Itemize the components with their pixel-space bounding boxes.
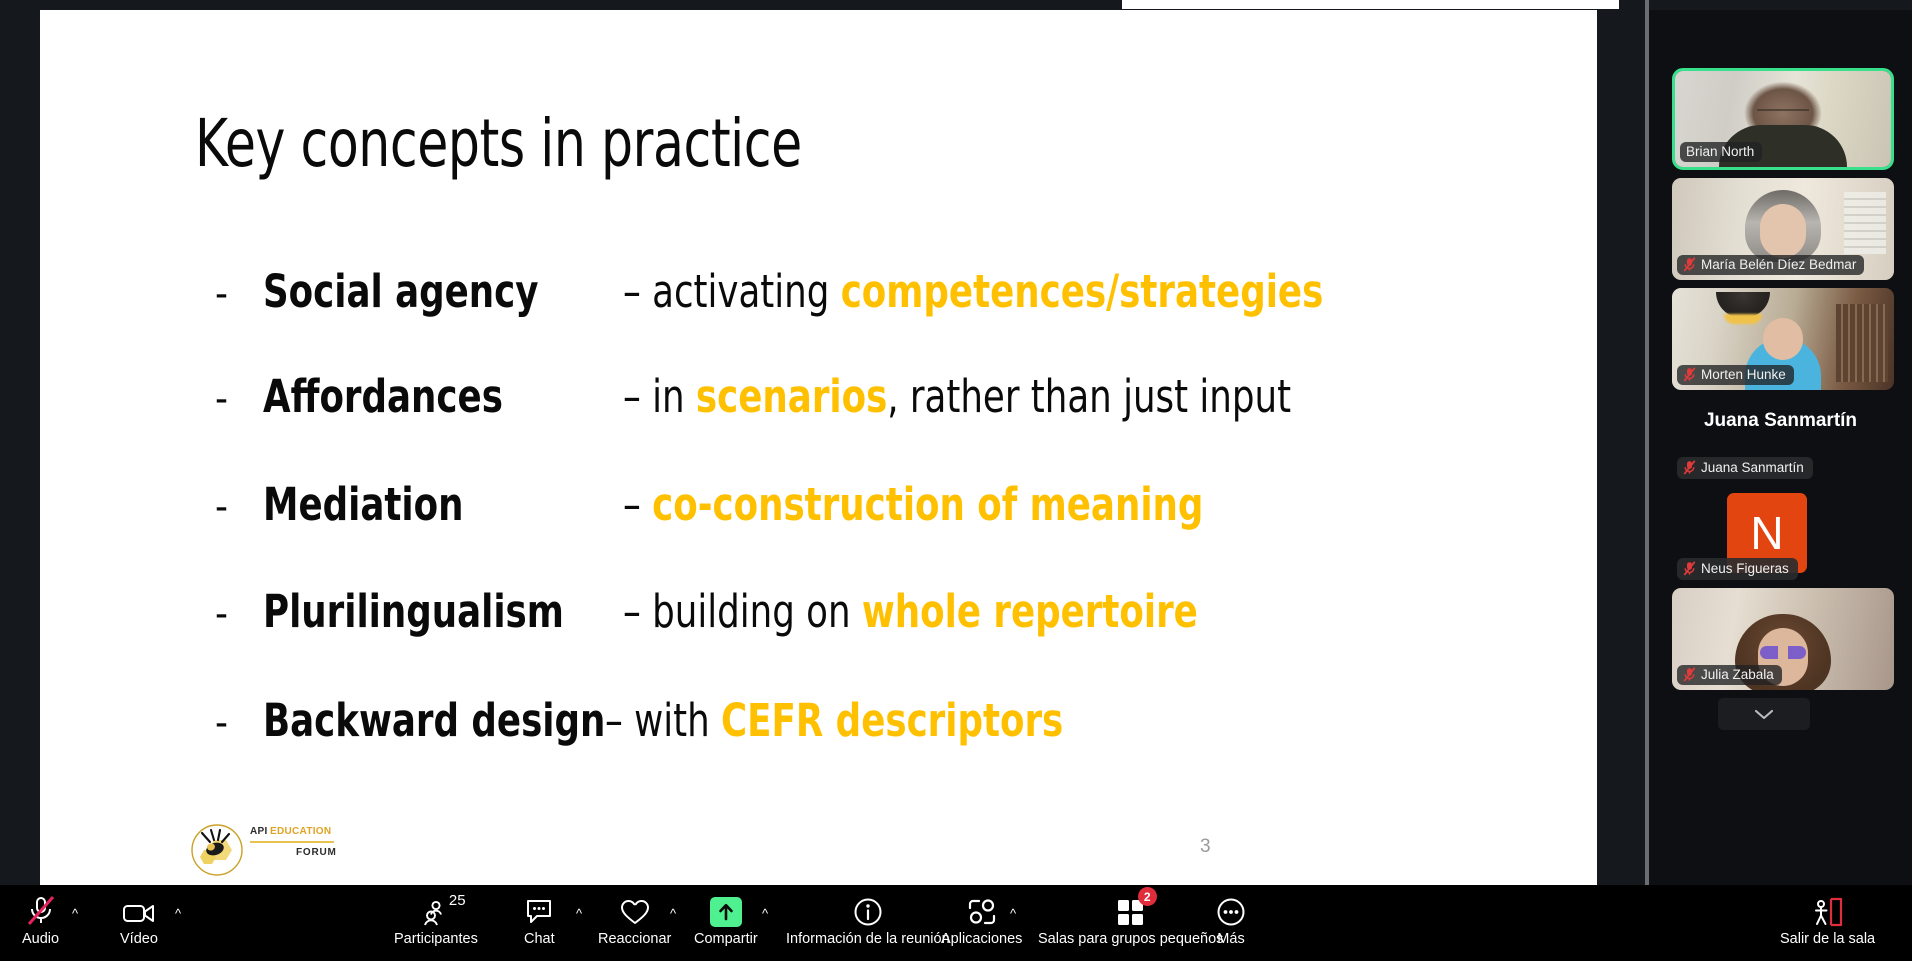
participant-name: Julia Zabala — [1701, 667, 1774, 682]
bullet-dash: - — [215, 376, 263, 422]
microphone-muted-icon — [26, 893, 56, 927]
toolbar-label: Audio — [22, 931, 59, 947]
logo-text-education: EDUCATION — [270, 826, 331, 837]
toolbar-button-meeting-info[interactable]: Información de la reunión — [786, 893, 950, 947]
people-icon: 25 — [421, 893, 451, 927]
participant-nameplate: Brian North — [1680, 142, 1762, 162]
shared-screen-stage: Key concepts in practice - Social agency… — [0, 10, 1645, 885]
bullet-text-highlight: CEFR descriptors — [721, 694, 1063, 747]
bullet-text-highlight: whole repertoire — [862, 585, 1198, 638]
participant-name: Neus Figueras — [1701, 561, 1789, 576]
bullet-text-pre: – — [623, 478, 652, 531]
toolbar-label: Más — [1217, 931, 1244, 947]
bullet-dash: - — [215, 484, 263, 530]
toolbar-label: Información de la reunión — [786, 931, 950, 947]
participant-tile[interactable]: Morten Hunke — [1672, 288, 1894, 390]
video-background-lamp-glow — [1724, 314, 1762, 324]
chevron-down-icon — [1753, 708, 1775, 721]
react-options-caret[interactable]: ^ — [670, 907, 676, 920]
toolbar-label: Salir de la sala — [1780, 931, 1875, 947]
bullet-term: Plurilingualism — [263, 585, 580, 638]
logo-text-forum: FORUM — [296, 847, 337, 858]
breakout-rooms-badge: 2 — [1138, 887, 1157, 906]
toolbar-button-react[interactable]: Reaccionar — [598, 893, 671, 947]
toolbar-button-video[interactable]: Vídeo — [120, 893, 158, 947]
bullet-dash: - — [215, 591, 263, 637]
slide-bullet-4: - Backward design – with CEFR descriptor… — [215, 694, 1126, 747]
bullet-term: Social agency — [263, 265, 580, 318]
bullet-dash: - — [215, 271, 263, 317]
api-education-forum-logo: API EDUCATION FORUM — [188, 820, 318, 878]
bullet-description: – with CEFR descriptors — [605, 694, 1063, 747]
bullet-description: – in scenarios, rather than just input — [623, 370, 1291, 423]
toolbar-label: Compartir — [694, 931, 758, 947]
participant-tile[interactable]: María Belén Díez Bedmar — [1672, 178, 1894, 280]
participant-nameplate: Morten Hunke — [1677, 365, 1794, 385]
toolbar-button-participants[interactable]: 25 Participantes — [394, 893, 478, 947]
video-options-caret[interactable]: ^ — [175, 907, 181, 920]
meeting-toolbar: Audio ^ Vídeo ^ 25 Participantes — [0, 885, 1912, 961]
toolbar-button-chat[interactable]: Chat — [524, 893, 555, 947]
toolbar-label: Reaccionar — [598, 931, 671, 947]
participant-name: Brian North — [1686, 144, 1754, 159]
chat-bubble-icon — [524, 893, 554, 927]
bullet-text-pre: – with — [605, 694, 721, 747]
slide-bullet-2: - Mediation – co-construction of meaning — [215, 478, 1283, 531]
bullet-term: Mediation — [263, 478, 580, 531]
video-background-detail — [1844, 192, 1886, 254]
participant-nameplate[interactable]: Neus Figueras — [1677, 558, 1798, 580]
toolbar-button-leave[interactable]: Salir de la sala — [1780, 893, 1875, 947]
share-options-caret[interactable]: ^ — [762, 907, 768, 920]
participant-nameplate: Julia Zabala — [1677, 665, 1782, 685]
chat-options-caret[interactable]: ^ — [576, 907, 582, 920]
leave-door-icon — [1811, 893, 1845, 927]
toolbar-label: Chat — [524, 931, 555, 947]
bullet-text-pre: – activating — [623, 265, 841, 318]
participant-nameplate[interactable]: Juana Sanmartín — [1677, 457, 1813, 479]
ellipsis-icon — [1216, 893, 1246, 927]
apps-options-caret[interactable]: ^ — [1010, 907, 1016, 920]
bullet-description: – co-construction of meaning — [623, 478, 1203, 531]
participants-count: 25 — [449, 892, 466, 909]
bullet-description: – building on whole repertoire — [623, 585, 1198, 638]
logo-divider-rule — [250, 841, 334, 843]
audio-options-caret[interactable]: ^ — [72, 907, 78, 920]
participant-tile[interactable]: Julia Zabala — [1672, 588, 1894, 690]
toolbar-label: Vídeo — [120, 931, 158, 947]
video-subject-detail — [1760, 646, 1806, 659]
microphone-muted-icon — [1683, 460, 1696, 475]
toolbar-button-breakout-rooms[interactable]: 2 Salas para grupos pequeños — [1038, 893, 1223, 947]
toolbar-button-share[interactable]: Compartir — [694, 893, 758, 947]
bullet-text-highlight: scenarios — [696, 370, 887, 423]
microphone-muted-icon — [1683, 257, 1696, 272]
microphone-muted-icon — [1683, 561, 1696, 576]
slide-title: Key concepts in practice — [195, 105, 802, 182]
participant-name: Morten Hunke — [1701, 367, 1786, 382]
bullet-term: Backward design — [263, 694, 564, 747]
slide-bullet-0: - Social agency – activating competences… — [215, 265, 1419, 318]
shared-window-notch — [1122, 0, 1619, 9]
bullet-dash: - — [215, 700, 263, 746]
spotlight-participant-name: Juana Sanmartín — [1649, 410, 1912, 432]
bullet-text-post: , rather than just input — [887, 370, 1291, 423]
scroll-down-button[interactable] — [1718, 698, 1810, 730]
bullet-term: Affordances — [263, 370, 580, 423]
slide-bullet-3: - Plurilingualism – building on whole re… — [215, 585, 1276, 638]
participant-tile[interactable]: Brian North — [1672, 68, 1894, 170]
slide-page-number: 3 — [1200, 836, 1211, 858]
bullet-text-highlight: competences/strategies — [841, 265, 1324, 318]
breakout-rooms-icon: 2 — [1116, 893, 1146, 927]
toolbar-label: Aplicaciones — [941, 931, 1022, 947]
toolbar-label: Salas para grupos pequeños — [1038, 931, 1223, 947]
heart-icon — [619, 893, 651, 927]
video-subject-face — [1760, 204, 1806, 258]
video-subject-detail — [1757, 109, 1809, 118]
info-circle-icon — [853, 893, 883, 927]
video-subject-face — [1763, 318, 1803, 360]
toolbar-button-audio[interactable]: Audio — [22, 893, 59, 947]
presentation-slide: Key concepts in practice - Social agency… — [40, 10, 1597, 895]
microphone-muted-icon — [1683, 367, 1696, 382]
bullet-text-highlight: co-construction of meaning — [652, 478, 1203, 531]
bullet-text-pre: – in — [623, 370, 696, 423]
bullet-description: – activating competences/strategies — [623, 265, 1323, 318]
toolbar-label: Participantes — [394, 931, 478, 947]
slide-bullet-1: - Affordances – in scenarios, rather tha… — [215, 370, 1382, 423]
participant-nameplate: María Belén Díez Bedmar — [1677, 255, 1864, 275]
microphone-muted-icon — [1683, 667, 1696, 682]
camera-icon — [122, 893, 156, 927]
participant-name: Juana Sanmartín — [1701, 460, 1804, 475]
participants-video-panel: Brian North María Belén Díez Bedmar — [1649, 10, 1912, 885]
video-background-detail — [1836, 304, 1888, 382]
toolbar-button-more[interactable]: Más — [1216, 893, 1246, 947]
bee-honeycomb-icon — [188, 820, 246, 876]
logo-text-api: API — [250, 826, 268, 837]
bullet-text-pre: – building on — [623, 585, 862, 638]
participant-name: María Belén Díez Bedmar — [1701, 257, 1856, 272]
apps-icon — [966, 893, 998, 927]
share-screen-icon — [710, 893, 742, 927]
window-top-strip — [0, 0, 1912, 10]
